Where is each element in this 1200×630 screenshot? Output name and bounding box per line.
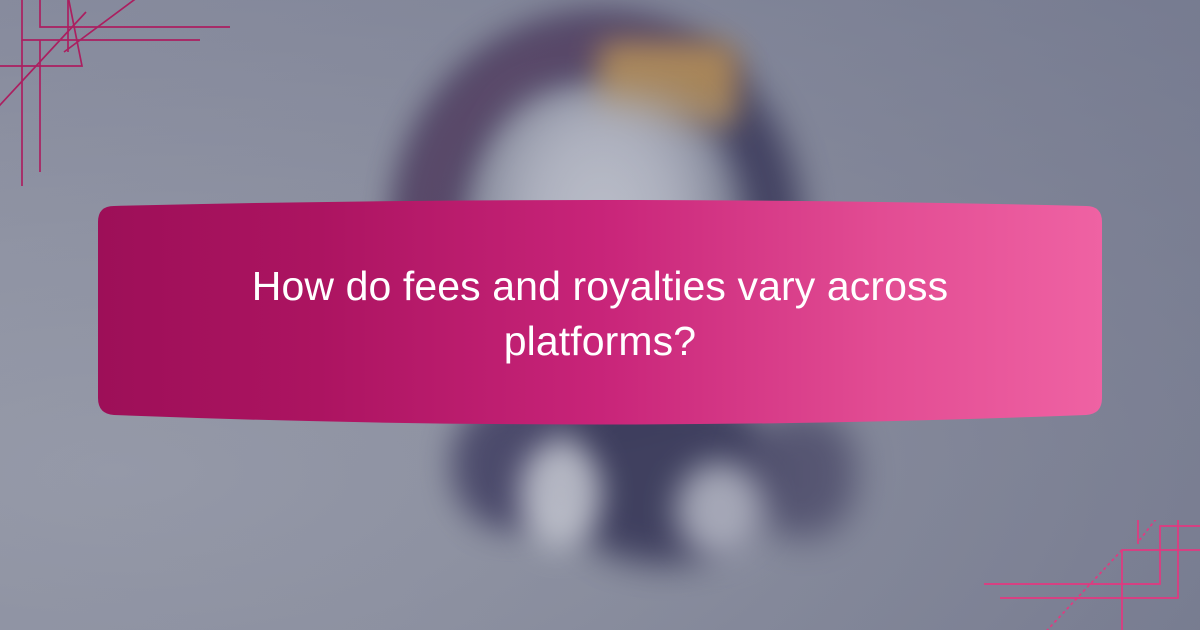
question-title: How do fees and royalties vary across pl… bbox=[230, 259, 970, 369]
question-card-canvas: How do fees and royalties vary across pl… bbox=[0, 0, 1200, 630]
banner-text-container: How do fees and royalties vary across pl… bbox=[98, 198, 1102, 430]
question-banner: How do fees and royalties vary across pl… bbox=[98, 198, 1102, 430]
